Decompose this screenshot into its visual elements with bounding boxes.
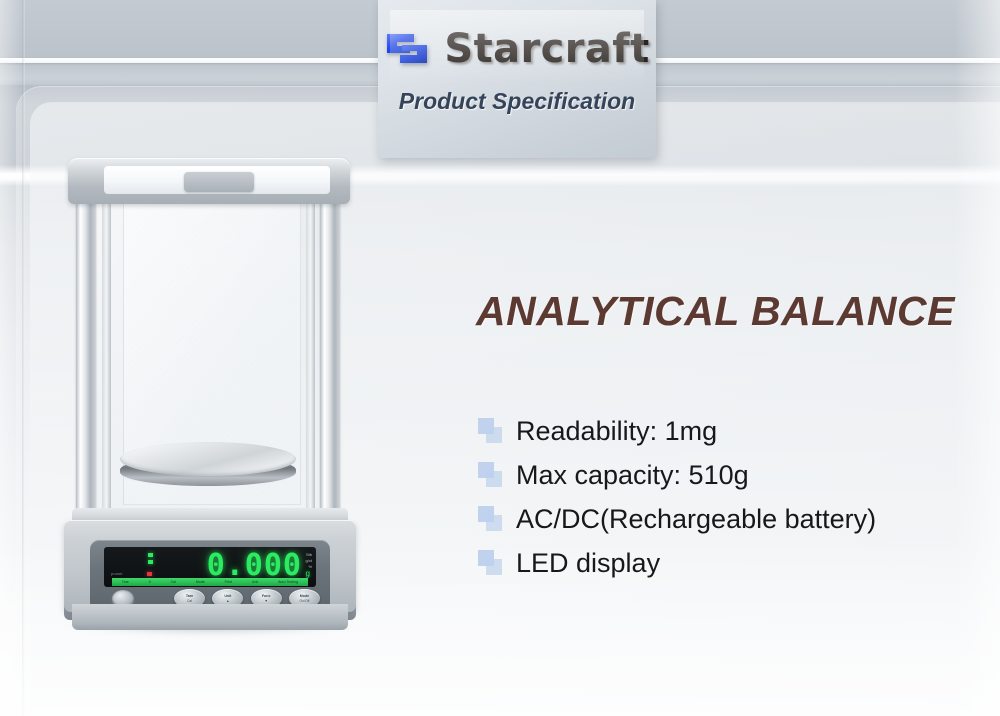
strip-label: Print [225, 580, 232, 584]
feature-label: Max capacity: 510g [516, 456, 749, 494]
draft-shield-handle[interactable] [184, 172, 254, 192]
bullet-squares-icon [478, 418, 504, 444]
draft-shield-top-cap [68, 158, 350, 204]
strip-label: Unit [252, 580, 258, 584]
feature-list: Readability: 1mg Max capacity: 510g AC/D… [478, 412, 978, 588]
strip-label: Mode [196, 580, 205, 584]
display-status-leds-left [148, 553, 154, 567]
feature-label: Readability: 1mg [516, 412, 717, 450]
brand-logo-row: Starcraft [378, 20, 656, 78]
product-spec-banner: Starcraft Product Specification ANALYTIC… [0, 0, 1000, 716]
status-led [148, 560, 153, 564]
starcraft-s-logo-icon [384, 28, 430, 70]
status-led [148, 553, 153, 557]
control-panel-bezel: power Stb g/ct % 0.000 g Tare 0 Cal [90, 540, 330, 612]
feature-item-power: AC/DC(Rechargeable battery) [478, 500, 978, 544]
key-label-bottom: ▼ [264, 599, 267, 603]
key-label-bottom: Cal [187, 599, 192, 603]
key-label-bottom: On/Off [300, 599, 310, 603]
brand-subtitle: Product Specification [378, 88, 656, 115]
bullet-squares-icon [478, 506, 504, 532]
feature-item-readability: Readability: 1mg [478, 412, 978, 456]
weighing-pan-top [120, 442, 296, 476]
analytical-balance-image: power Stb g/ct % 0.000 g Tare 0 Cal [60, 140, 360, 650]
draft-shield-post-left [76, 172, 96, 520]
draft-shield-post-right [320, 172, 340, 520]
strip-label: Tare [122, 580, 129, 584]
led-display-screen: power Stb g/ct % 0.000 g Tare 0 Cal [104, 547, 316, 587]
balance-base-lip [72, 604, 348, 630]
key-label-bottom: ▲ [226, 599, 229, 603]
feature-item-capacity: Max capacity: 510g [478, 456, 978, 500]
feature-label: LED display [516, 544, 660, 582]
display-function-strip: Tare 0 Cal Mode Print Unit Auto Testing [112, 578, 308, 586]
feature-item-display: LED display [478, 544, 978, 588]
power-indicator-led [147, 572, 152, 576]
display-indicators-right: Stb g/ct % [306, 552, 312, 570]
draft-shield-post-right-inner [306, 172, 315, 520]
strip-label: 0 [149, 580, 151, 584]
strip-label: Cal [171, 580, 176, 584]
weight-unit: g [306, 569, 310, 578]
feature-label: AC/DC(Rechargeable battery) [516, 500, 876, 538]
brand-name: Starcraft [444, 26, 649, 72]
product-title: ANALYTICAL BALANCE [476, 288, 955, 335]
balance-base: power Stb g/ct % 0.000 g Tare 0 Cal [64, 508, 356, 626]
bullet-squares-icon [478, 550, 504, 576]
bullet-squares-icon [478, 462, 504, 488]
brand-header-card: Starcraft Product Specification [378, 0, 656, 158]
display-power-label: power [111, 571, 123, 576]
weighing-pan [120, 442, 296, 490]
draft-shield-post-left-inner [102, 172, 111, 520]
strip-label: Auto Testing [278, 580, 298, 584]
balance-base-body: power Stb g/ct % 0.000 g Tare 0 Cal [64, 520, 356, 612]
